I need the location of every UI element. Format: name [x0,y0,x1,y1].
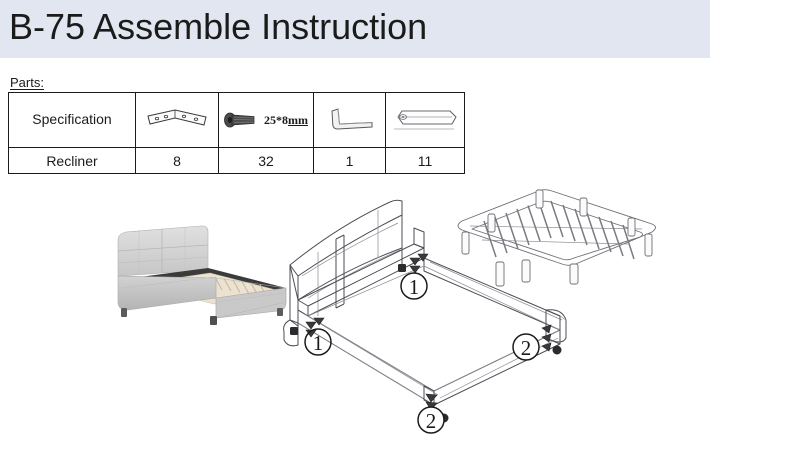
header-cell-allen-key [314,93,386,148]
qty-slat: 11 [386,148,465,174]
qty-bracket: 8 [136,148,219,174]
header-cell-bolt: 25*8mm [219,93,314,148]
bolt-dimension-label: 25*8mm [264,113,308,128]
table-row: Recliner 8 32 1 11 [9,148,465,174]
bed-frame-assembly-drawing: 1 1 2 2 [278,190,578,445]
specification-label: Specification [32,111,111,127]
parts-section-label: Parts: [10,75,44,90]
header-cell-specification: Specification [9,93,136,148]
header-cell-bracket [136,93,219,148]
svg-text:1: 1 [313,331,324,355]
corner-bracket-icon [146,107,208,133]
qty-bolt: 32 [219,148,314,174]
qty-allen-key: 1 [314,148,386,174]
callout-step-1-headboard-left: 1 [305,329,331,355]
page-title: B-75 Assemble Instruction [9,4,427,50]
upholstered-bed-photo [96,218,296,338]
svg-text:1: 1 [409,275,420,299]
parts-table: Specification [8,92,465,174]
svg-text:2: 2 [426,409,437,433]
row-label-recliner: Recliner [9,148,136,174]
callout-step-1-headboard-right: 1 [401,273,427,299]
wood-slat-icon [390,103,460,137]
instruction-page: B-75 Assemble Instruction Parts: Specifi… [0,0,800,450]
parts-table-header-row: Specification [9,93,465,148]
allen-key-icon [325,105,375,135]
callout-step-2-footboard-front: 2 [418,407,444,433]
illustration-area: 1 1 2 2 [0,180,800,450]
header-cell-slat [386,93,465,148]
callout-step-2-footboard-right: 2 [513,334,539,360]
svg-text:2: 2 [521,336,532,360]
flat-head-bolt-icon [224,111,260,129]
